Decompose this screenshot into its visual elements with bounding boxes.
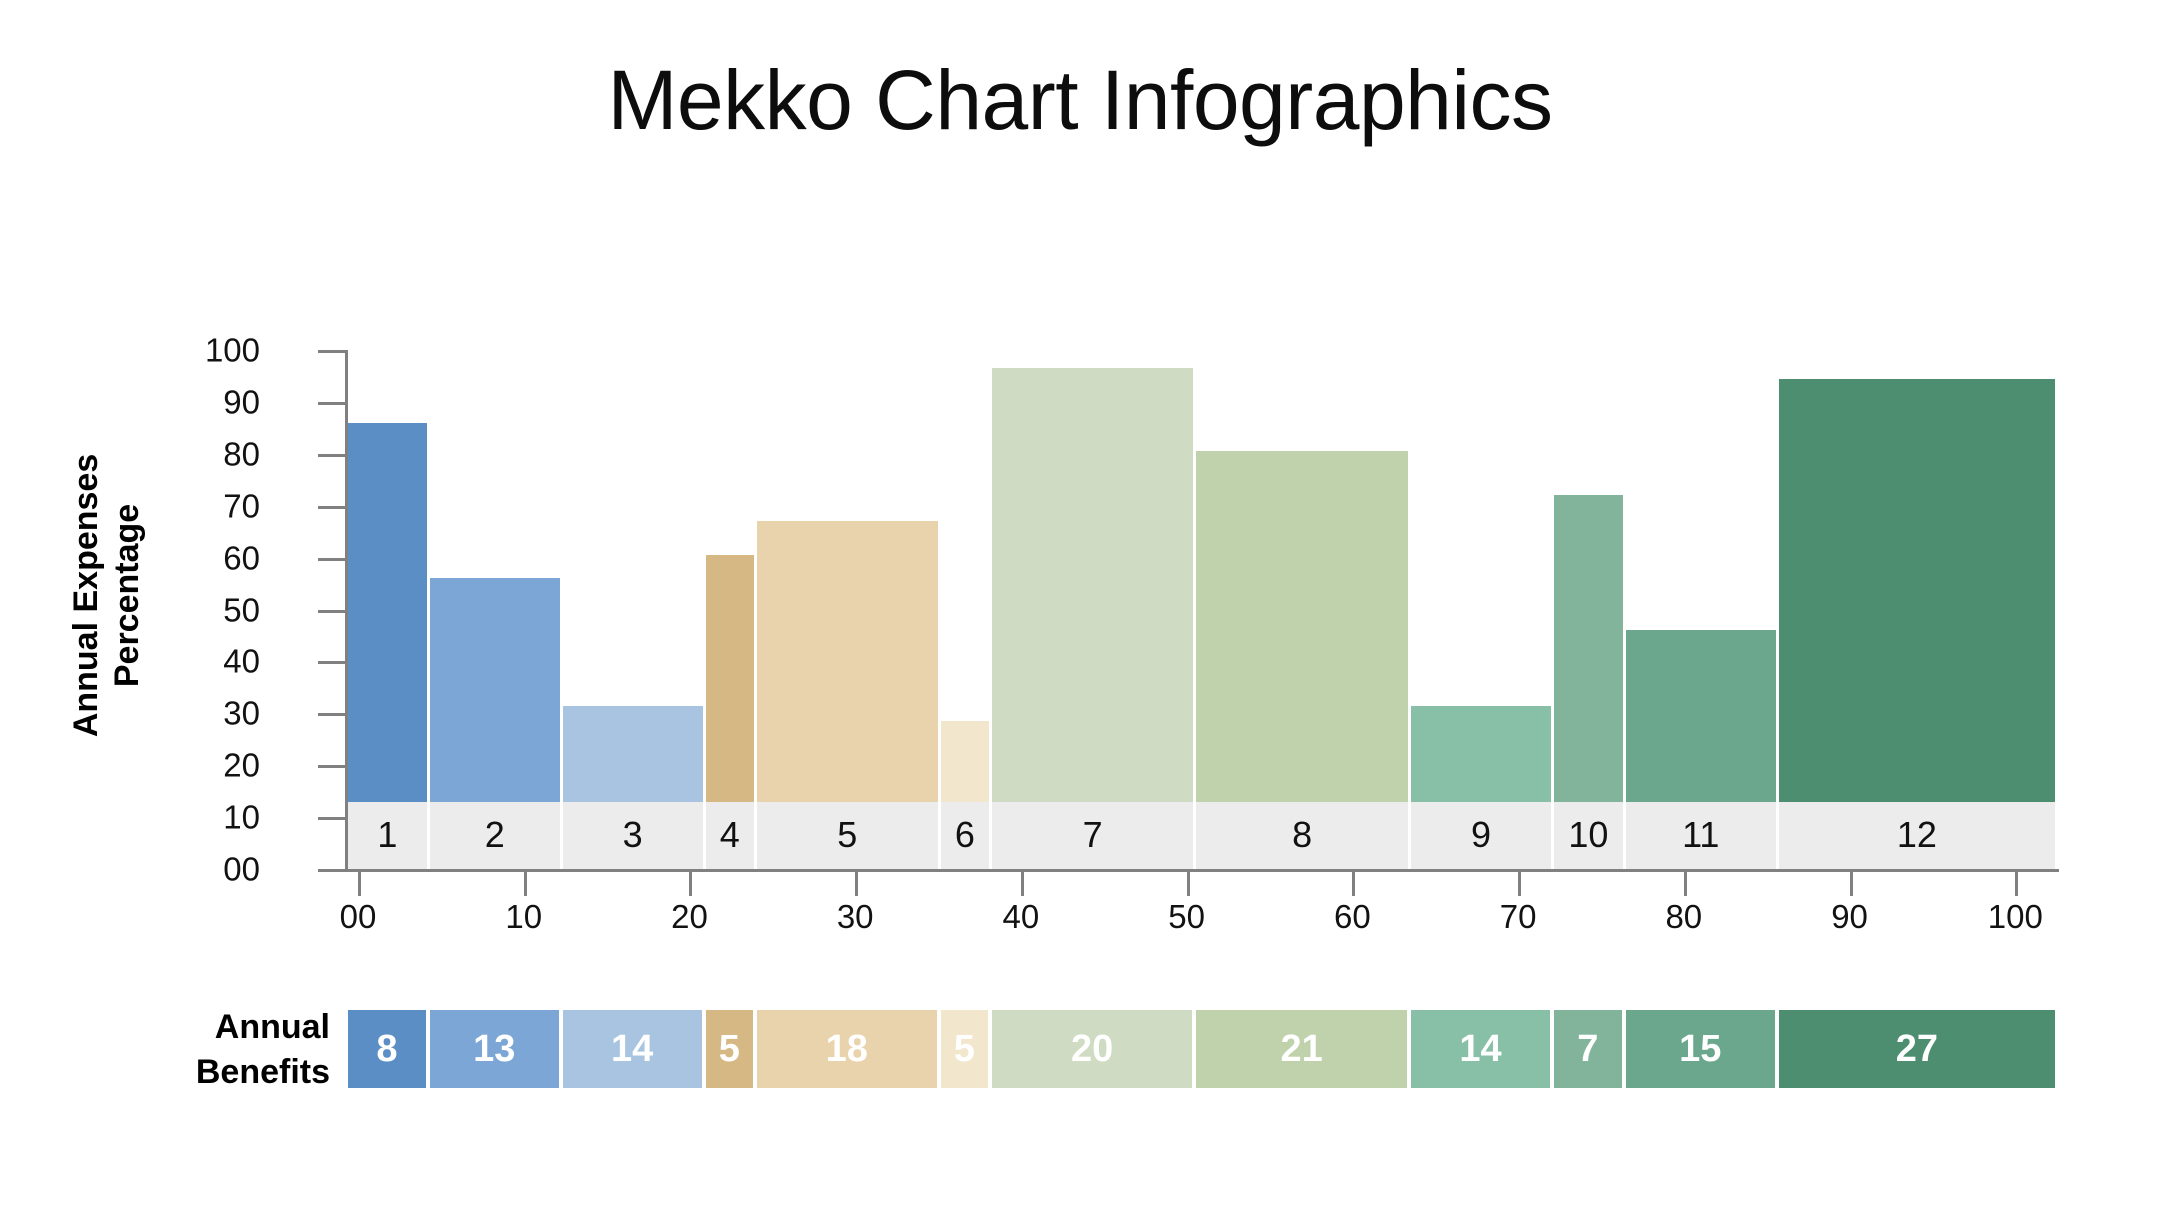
- benefit-segment-value: 21: [1281, 1030, 1323, 1068]
- x-axis-tick-mark: [524, 872, 527, 896]
- x-axis-tick-label: 30: [785, 900, 925, 933]
- x-axis-tick-mark: [1187, 872, 1190, 896]
- y-axis-tick-mark: [318, 765, 346, 768]
- bar-column[interactable]: 9: [1411, 350, 1554, 869]
- benefit-segment[interactable]: 18: [757, 1010, 941, 1088]
- benefit-segment-value: 13: [473, 1030, 515, 1068]
- category-band: 10: [1554, 802, 1623, 869]
- y-axis-title-line1: Annual Expenses: [67, 453, 108, 736]
- y-axis-tick-mark: [318, 661, 346, 664]
- y-axis-tick-labels: 10090807060504030201000: [170, 337, 260, 869]
- benefits-row-label: Annual Benefits: [100, 1005, 330, 1095]
- category-band: 3: [563, 802, 703, 869]
- category-band: 1: [348, 802, 427, 869]
- bar-rect[interactable]: [941, 721, 989, 801]
- bar-rect[interactable]: [348, 423, 427, 802]
- benefit-segment[interactable]: 20: [992, 1010, 1196, 1088]
- y-axis-tick-mark: [318, 454, 346, 457]
- bar-column[interactable]: 7: [992, 350, 1196, 869]
- category-label: 4: [720, 817, 740, 853]
- category-label: 12: [1897, 817, 1937, 853]
- benefit-segment[interactable]: 5: [941, 1010, 992, 1088]
- category-band: 7: [992, 802, 1193, 869]
- benefit-segment[interactable]: 15: [1626, 1010, 1779, 1088]
- x-axis-tick-mark: [855, 872, 858, 896]
- benefits-strip: 81314518520211471527: [348, 1010, 2055, 1088]
- category-label: 10: [1568, 817, 1608, 853]
- x-axis-tick-labels: 00102030405060708090100: [348, 900, 2055, 950]
- category-label: 6: [955, 817, 975, 853]
- benefit-segment-value: 14: [1459, 1030, 1501, 1068]
- page-title: Mekko Chart Infographics: [0, 58, 2160, 142]
- y-axis-tick-mark: [318, 402, 346, 405]
- y-axis-tick-label: 00: [170, 853, 260, 886]
- benefit-segment-value: 27: [1896, 1030, 1938, 1068]
- bar-column[interactable]: 4: [706, 350, 757, 869]
- bar-rect[interactable]: [1779, 379, 2055, 802]
- y-axis-tick-label: 60: [170, 541, 260, 574]
- benefits-row-label-line2: Benefits: [100, 1050, 330, 1095]
- category-label: 9: [1471, 817, 1491, 853]
- benefit-segment[interactable]: 5: [706, 1010, 757, 1088]
- y-axis-tick-label: 90: [170, 385, 260, 418]
- benefit-segment[interactable]: 21: [1196, 1010, 1411, 1088]
- y-axis-tick-label: 10: [170, 801, 260, 834]
- category-label: 8: [1292, 817, 1312, 853]
- category-band: 12: [1779, 802, 2055, 869]
- category-label: 11: [1682, 817, 1719, 853]
- x-axis-tick-mark: [1850, 872, 1853, 896]
- x-axis-tick-label: 60: [1282, 900, 1422, 933]
- bar-rect[interactable]: [430, 578, 560, 801]
- y-axis-tick-label: 80: [170, 437, 260, 470]
- benefit-segment[interactable]: 27: [1779, 1010, 2055, 1088]
- benefit-segment[interactable]: 14: [563, 1010, 706, 1088]
- y-axis-tick-mark: [318, 869, 346, 872]
- category-label: 5: [837, 817, 857, 853]
- category-band: 6: [941, 802, 989, 869]
- y-axis-tick-mark: [318, 506, 346, 509]
- bar-column[interactable]: 8: [1196, 350, 1411, 869]
- x-axis-tick-mark: [1021, 872, 1024, 896]
- category-band: 2: [430, 802, 560, 869]
- x-axis-tick-mark: [1352, 872, 1355, 896]
- category-label: 1: [377, 817, 397, 853]
- category-band: 8: [1196, 802, 1408, 869]
- bar-column[interactable]: 2: [430, 350, 563, 869]
- bar-column[interactable]: 5: [757, 350, 941, 869]
- x-axis-tick-label: 10: [454, 900, 594, 933]
- benefit-segment[interactable]: 13: [430, 1010, 563, 1088]
- category-band: 11: [1626, 802, 1776, 869]
- y-axis-tick-mark: [318, 350, 346, 353]
- x-axis-tick-mark: [689, 872, 692, 896]
- benefit-segment-value: 5: [954, 1030, 975, 1068]
- bar-rect[interactable]: [1411, 706, 1551, 802]
- benefit-segment-value: 20: [1071, 1030, 1113, 1068]
- benefit-segment-value: 5: [719, 1030, 740, 1068]
- benefit-segment-value: 14: [611, 1030, 653, 1068]
- bar-column[interactable]: 12: [1779, 350, 2055, 869]
- y-axis-tick-mark: [318, 713, 346, 716]
- category-label: 3: [623, 817, 643, 853]
- bar-rect[interactable]: [992, 368, 1193, 801]
- bar-rect[interactable]: [706, 555, 754, 802]
- category-label: 7: [1083, 817, 1103, 853]
- category-label: 2: [485, 817, 505, 853]
- bar-column[interactable]: 1: [348, 350, 430, 869]
- bar-rect[interactable]: [1554, 495, 1623, 801]
- bar-column[interactable]: 11: [1626, 350, 1779, 869]
- bar-column[interactable]: 6: [941, 350, 992, 869]
- x-axis-tick-mark: [2015, 872, 2018, 896]
- mekko-chart-figure: Mekko Chart Infographics Annual Expenses…: [0, 0, 2160, 1215]
- bar-column[interactable]: 10: [1554, 350, 1626, 869]
- benefit-segment-value: 15: [1679, 1030, 1721, 1068]
- y-axis-tick-label: 40: [170, 645, 260, 678]
- x-axis-tick-mark: [1684, 872, 1687, 896]
- x-axis-tick-label: 40: [951, 900, 1091, 933]
- y-axis-tick-label: 20: [170, 749, 260, 782]
- x-axis-tick-label: 80: [1614, 900, 1754, 933]
- x-axis-tick-marks: [348, 872, 2055, 898]
- y-axis-tick-label: 70: [170, 489, 260, 522]
- x-axis-tick-label: 50: [1117, 900, 1257, 933]
- bar-column[interactable]: 3: [563, 350, 706, 869]
- benefit-segment-value: 8: [376, 1030, 397, 1068]
- y-axis-tick-mark: [318, 610, 346, 613]
- bar-rect[interactable]: [1196, 451, 1408, 801]
- y-axis-tick-mark: [318, 558, 346, 561]
- y-axis-tick-label: 100: [170, 334, 260, 367]
- bar-rect[interactable]: [1626, 630, 1776, 801]
- x-axis-tick-label: 20: [619, 900, 759, 933]
- benefits-row-label-line1: Annual: [100, 1005, 330, 1050]
- benefit-segment-value: 7: [1577, 1030, 1598, 1068]
- plot-area: 123456789101112: [348, 350, 2055, 869]
- y-axis-tick-mark: [318, 817, 346, 820]
- category-band: 9: [1411, 802, 1551, 869]
- category-band: 5: [757, 802, 938, 869]
- benefit-segment-value: 18: [826, 1030, 868, 1068]
- bar-rect[interactable]: [563, 706, 703, 802]
- y-axis-title-line2: Percentage: [108, 453, 149, 736]
- benefit-segment[interactable]: 8: [348, 1010, 430, 1088]
- x-axis-tick-label: 90: [1780, 900, 1920, 933]
- bar-rect[interactable]: [757, 521, 938, 801]
- y-axis-tick-label: 30: [170, 697, 260, 730]
- category-band: 4: [706, 802, 754, 869]
- benefit-segment[interactable]: 14: [1411, 1010, 1554, 1088]
- x-axis-tick-mark: [358, 872, 361, 896]
- y-axis-title: Annual Expenses Percentage: [78, 360, 138, 830]
- y-axis-tick-label: 50: [170, 593, 260, 626]
- x-axis-tick-mark: [1518, 872, 1521, 896]
- benefit-segment[interactable]: 7: [1554, 1010, 1626, 1088]
- x-axis-tick-label: 100: [1945, 900, 2085, 933]
- x-axis-tick-label: 70: [1448, 900, 1588, 933]
- x-axis-tick-label: 00: [288, 900, 428, 933]
